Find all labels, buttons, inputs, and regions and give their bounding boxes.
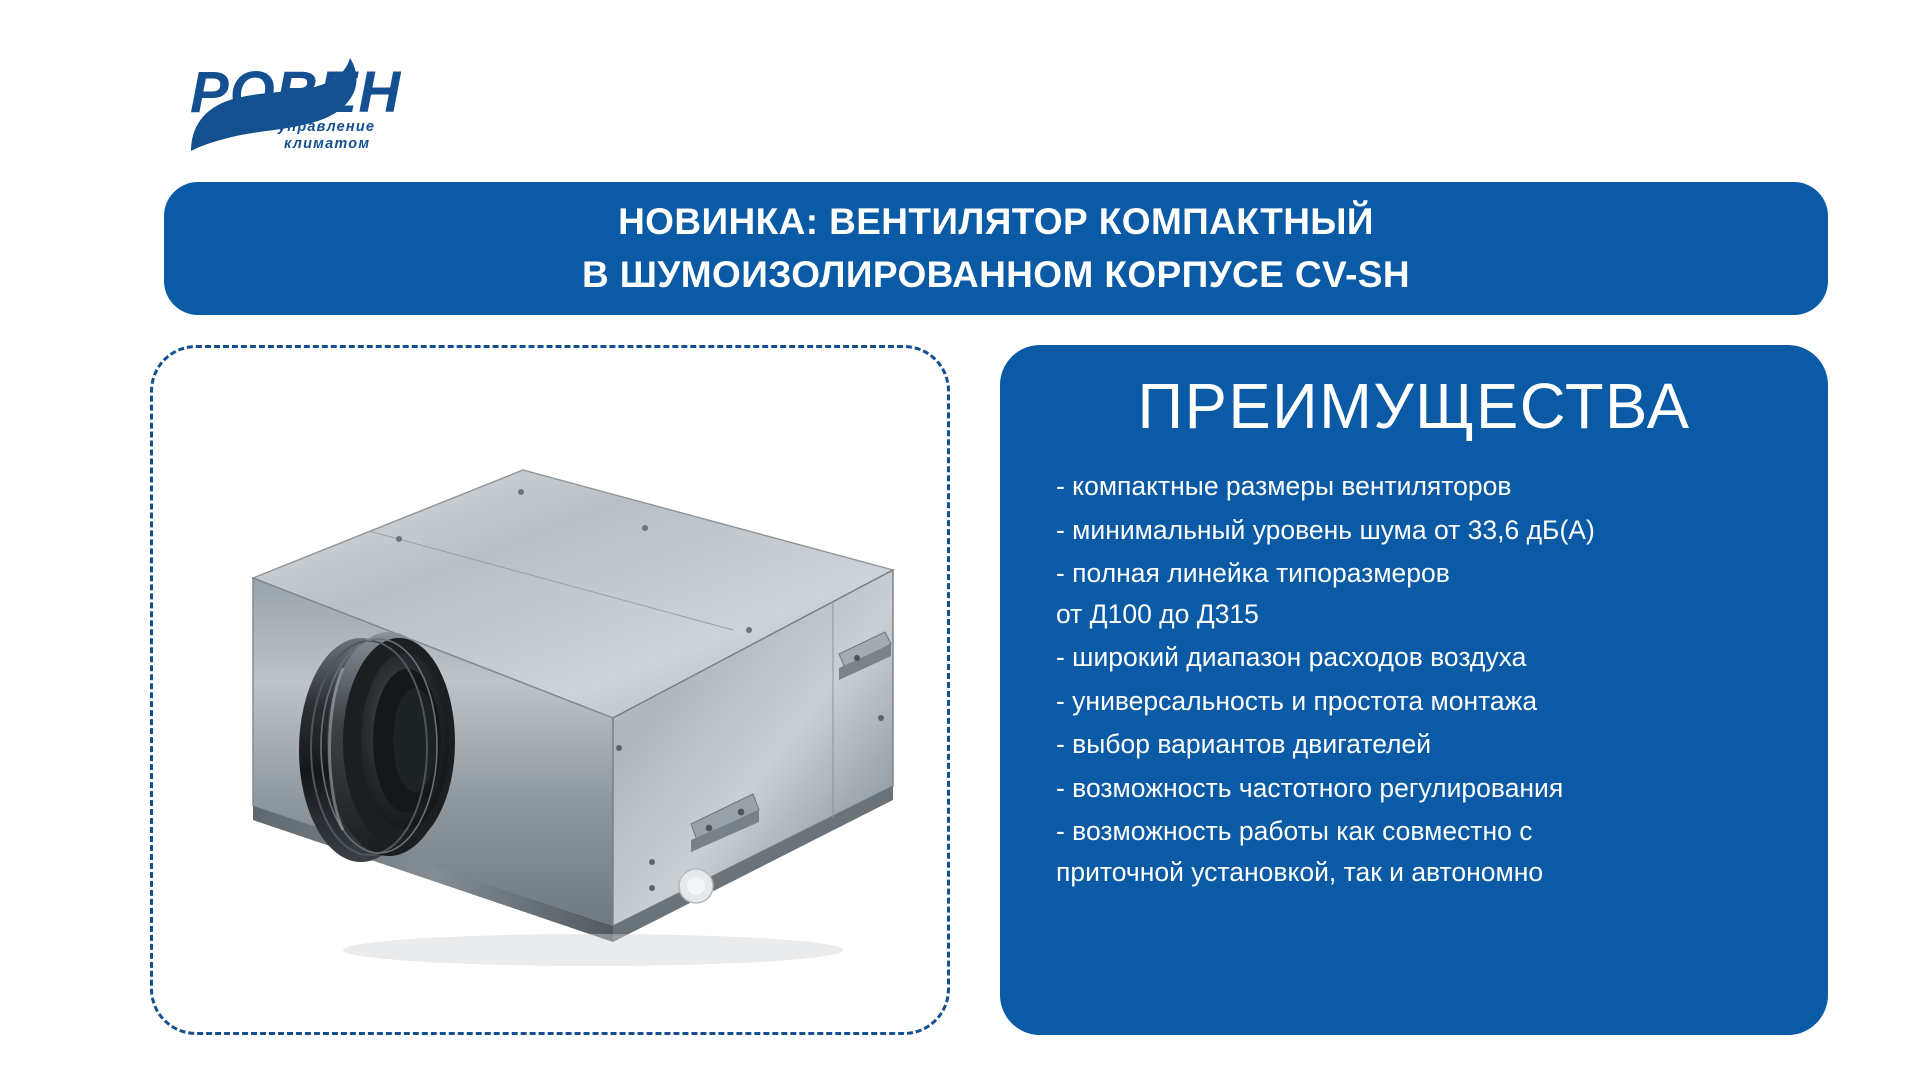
list-item: - возможность частотного регулирования [1056,766,1794,810]
list-item: - выбор вариантов двигателей [1056,723,1794,767]
list-item-text: - выбор вариантов двигателей [1056,729,1431,759]
screw-icon [616,745,622,751]
screw-icon [518,489,524,495]
screw-icon [649,885,655,891]
list-item: - компактные размеры вентиляторов [1056,465,1794,509]
advantages-heading: ПРЕИМУЩЕСТВА [1038,371,1790,443]
list-item: - возможность работы как совместно с при… [1056,810,1794,894]
title-line-1: НОВИНКА: ВЕНТИЛЯТОР КОМПАКТНЫЙ [618,196,1374,249]
advantages-panel: ПРЕИМУЩЕСТВА - компактные размеры вентил… [1000,345,1828,1035]
tagline-line1: управление [277,119,375,135]
list-item-text: - возможность частотного регулирования [1056,773,1563,803]
screw-icon [878,715,884,721]
list-item-text: - универсальность и простота монтажа [1056,686,1537,716]
wordmark-text: РОВЕН [190,60,401,125]
screw-icon [649,859,655,865]
product-image-panel [150,345,950,1035]
screw-icon [642,525,648,531]
list-item: - широкий диапазон расходов воздуха [1056,636,1794,680]
list-item: - полная линейка типоразмеров от Д100 до… [1056,552,1794,636]
list-item: - универсальность и простота монтажа [1056,679,1794,723]
screw-icon [746,627,752,633]
cable-gland [679,869,713,903]
list-item-text: - компактные размеры вентиляторов [1056,471,1511,501]
product-photo [193,418,913,978]
roven-logo: РОВЕН управление климатом [150,38,420,153]
wordmark: РОВЕН [190,60,401,125]
list-item-continuation: приточной установкой, так и автономно [1056,845,1794,886]
list-item-text: - широкий диапазон расходов воздуха [1056,642,1526,672]
drop-shadow [343,934,843,966]
list-item-text: - возможность работы как совместно с [1056,816,1533,846]
list-item-continuation: от Д100 до Д315 [1056,587,1794,628]
screw-icon [396,536,402,542]
advantages-list: - компактные размеры вентиляторов - мини… [1034,465,1794,894]
title-line-2: В ШУМОИЗОЛИРОВАННОМ КОРПУСЕ CV-SH [582,249,1410,302]
list-item-text: - полная линейка типоразмеров [1056,558,1450,588]
roven-logo-svg: РОВЕН управление климатом [150,38,420,153]
tagline-line2: климатом [284,136,370,152]
list-item: - минимальный уровень шума от 33,6 дБ(А) [1056,508,1794,552]
title-banner: НОВИНКА: ВЕНТИЛЯТОР КОМПАКТНЫЙ В ШУМОИЗО… [164,182,1828,315]
list-item-text: - минимальный уровень шума от 33,6 дБ(А) [1056,515,1595,545]
